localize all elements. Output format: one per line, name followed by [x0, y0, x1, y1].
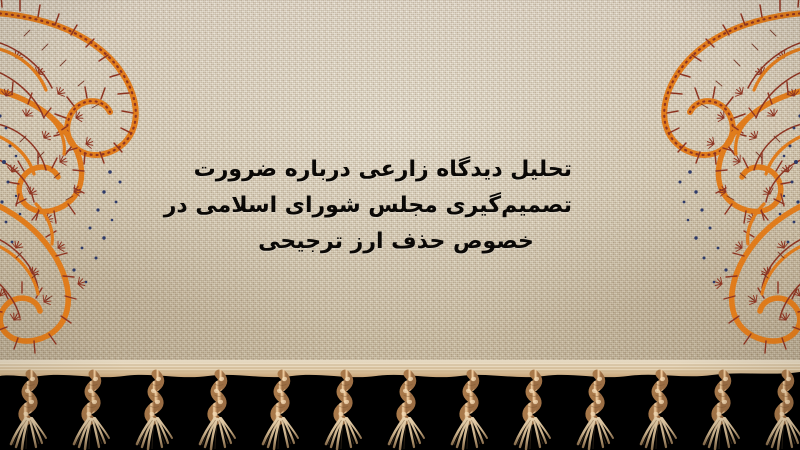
headline-line-1: تحلیل دیدگاه زارعی درباره ضرورت [220, 152, 572, 188]
black-backdrop [0, 372, 800, 450]
headline-line-2: تصمیم‌گیری مجلس شورای اسلامی در [220, 188, 572, 224]
banner-canvas: تحلیل دیدگاه زارعی درباره ضرورت تصمیم‌گی… [0, 0, 800, 450]
headline-line-3: خصوص حذف ارز ترجیحی [220, 224, 572, 260]
headline-title: تحلیل دیدگاه زارعی درباره ضرورت تصمیم‌گی… [220, 152, 572, 260]
